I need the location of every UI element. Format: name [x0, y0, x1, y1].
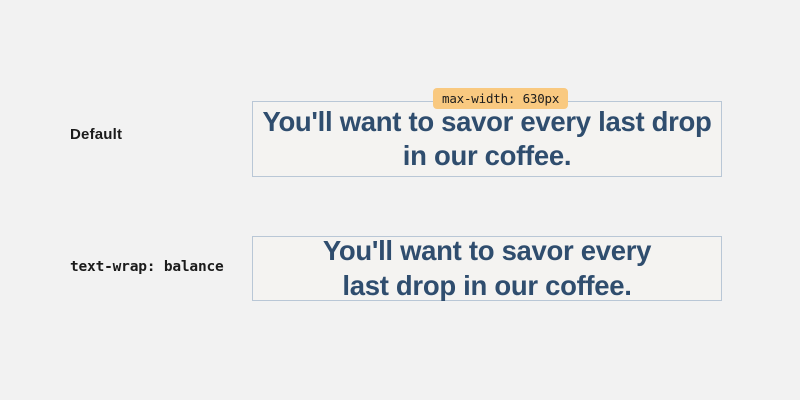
demo-box-balance: You'll want to savor every last drop in … [252, 236, 722, 301]
demo-box-default: You'll want to savor every last drop in … [252, 101, 722, 177]
sample-text-default: You'll want to savor every last drop in … [253, 105, 721, 174]
row-label-default: Default [70, 126, 122, 143]
sample-text-balance: You'll want to savor every last drop in … [322, 234, 652, 303]
demo-stage: Default You'll want to savor every last … [0, 0, 800, 400]
max-width-badge: max-width: 630px [433, 88, 568, 109]
row-label-balance: text-wrap: balance [70, 259, 224, 275]
